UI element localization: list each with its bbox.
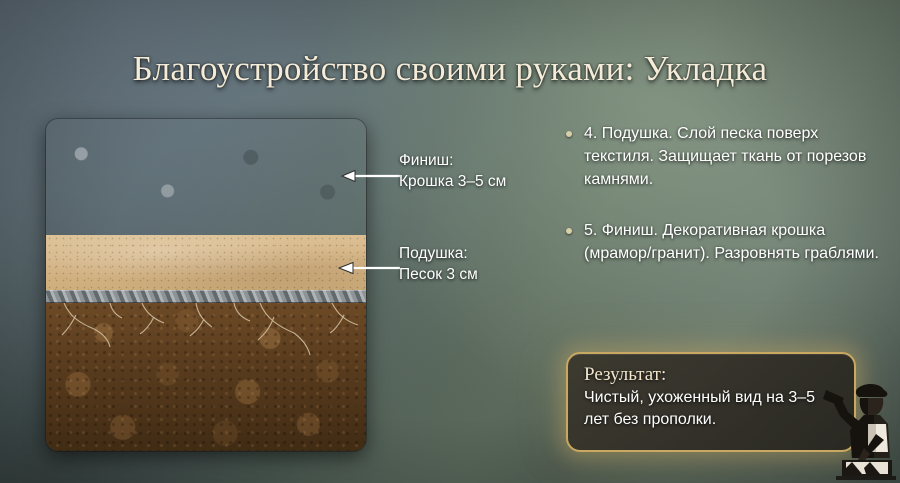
layer-gravel: [46, 119, 366, 235]
step-text: 4. Подушка. Слой песка поверх текстиля. …: [584, 122, 890, 191]
callout-finish: Финиш: Крошка 3–5 см: [399, 150, 506, 192]
list-item: 4. Подушка. Слой песка поверх текстиля. …: [560, 122, 890, 191]
bullet-dot-icon: [566, 131, 572, 137]
result-callout-box: Результат: Чистый, ухоженный вид на 3–5 …: [566, 352, 856, 452]
cross-section-image: [46, 119, 366, 451]
steps-list: 4. Подушка. Слой песка поверх текстиля. …: [560, 122, 890, 293]
layer-geotextile: [46, 290, 366, 303]
stonemason-worker-icon: [818, 372, 896, 480]
callout-cushion-line2: Песок 3 см: [399, 264, 478, 285]
callout-cushion-line1: Подушка:: [399, 243, 478, 264]
callout-finish-line2: Крошка 3–5 см: [399, 171, 506, 192]
result-title: Результат:: [584, 364, 840, 386]
callout-arrow-cushion: [338, 261, 401, 275]
result-body: Чистый, ухоженный вид на 3–5 лет без про…: [584, 387, 840, 431]
bullet-dot-icon: [566, 228, 572, 234]
callout-cushion: Подушка: Песок 3 см: [399, 243, 478, 285]
list-item: 5. Финиш. Декоративная крошка (мрамор/гр…: [560, 219, 890, 265]
callout-arrow-finish: [341, 169, 401, 183]
layer-sand: [46, 235, 366, 290]
callout-finish-line1: Финиш:: [399, 150, 506, 171]
plant-roots-icon: [46, 303, 366, 373]
step-text: 5. Финиш. Декоративная крошка (мрамор/гр…: [584, 219, 890, 265]
slide-canvas: Благоустройство своими руками: Укладка Ф…: [0, 0, 900, 483]
page-title: Благоустройство своими руками: Укладка: [0, 49, 900, 89]
